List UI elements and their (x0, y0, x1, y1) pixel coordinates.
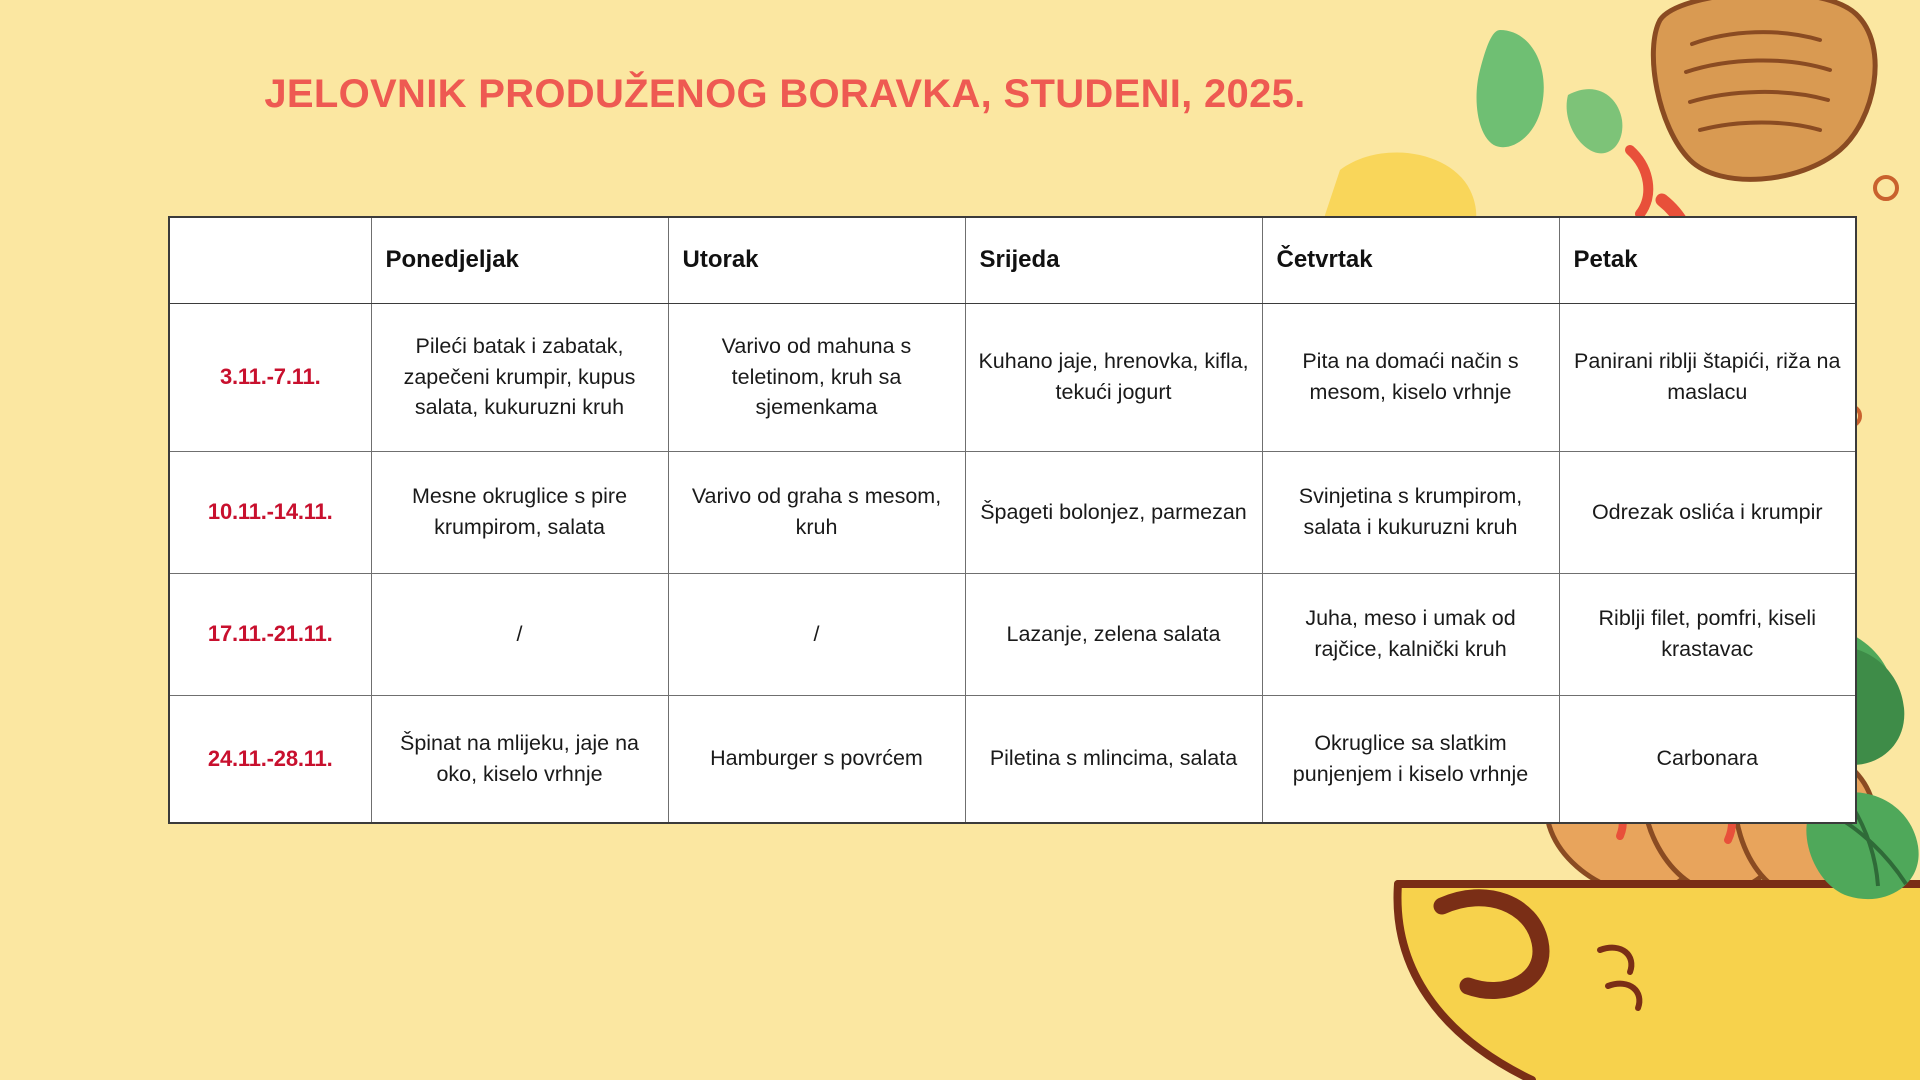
meal-cell: Pita na domaći način s mesom, kiselo vrh… (1262, 303, 1559, 451)
meal-cell: Varivo od graha s mesom, kruh (668, 451, 965, 573)
meal-cell: Kuhano jaje, hrenovka, kifla, tekući jog… (965, 303, 1262, 451)
page-title: JELOVNIK PRODUŽENOG BORAVKA, STUDENI, 20… (0, 72, 1570, 117)
menu-poster: JELOVNIK PRODUŽENOG BORAVKA, STUDENI, 20… (0, 0, 1920, 1080)
column-header-friday: Petak (1559, 217, 1856, 303)
column-header-tuesday: Utorak (668, 217, 965, 303)
menu-table: Ponedjeljak Utorak Srijeda Četvrtak Peta… (168, 216, 1857, 824)
bread-loaf-icon (1653, 0, 1875, 179)
meal-cell: Špageti bolonjez, parmezan (965, 451, 1262, 573)
column-header-thursday: Četvrtak (1262, 217, 1559, 303)
meal-cell: Pileći batak i zabatak, zapečeni krumpir… (371, 303, 668, 451)
meal-cell: Svinjetina s krumpirom, salata i kukuruz… (1262, 451, 1559, 573)
week-date-range: 17.11.-21.11. (169, 573, 371, 695)
meal-cell: Lazanje, zelena salata (965, 573, 1262, 695)
table-row: 10.11.-14.11. Mesne okruglice s pire kru… (169, 451, 1856, 573)
table-corner-header (169, 217, 371, 303)
table-row: 24.11.-28.11. Špinat na mlijeku, jaje na… (169, 695, 1856, 823)
meal-cell: Okruglice sa slatkim punjenjem i kiselo … (1262, 695, 1559, 823)
meal-cell: / (668, 573, 965, 695)
week-date-range: 24.11.-28.11. (169, 695, 371, 823)
table-header-row: Ponedjeljak Utorak Srijeda Četvrtak Peta… (169, 217, 1856, 303)
meal-cell: Juha, meso i umak od rajčice, kalnički k… (1262, 573, 1559, 695)
menu-table-container: Ponedjeljak Utorak Srijeda Četvrtak Peta… (168, 216, 1755, 824)
meal-cell: Riblji filet, pomfri, kiseli krastavac (1559, 573, 1856, 695)
column-header-wednesday: Srijeda (965, 217, 1262, 303)
meal-cell: Varivo od mahuna s teletinom, kruh sa sj… (668, 303, 965, 451)
table-row: 3.11.-7.11. Pileći batak i zabatak, zape… (169, 303, 1856, 451)
meal-cell: Piletina s mlincima, salata (965, 695, 1262, 823)
meal-cell: / (371, 573, 668, 695)
week-date-range: 3.11.-7.11. (169, 303, 371, 451)
meal-cell: Mesne okruglice s pire krumpirom, salata (371, 451, 668, 573)
meal-cell: Hamburger s povrćem (668, 695, 965, 823)
week-date-range: 10.11.-14.11. (169, 451, 371, 573)
column-header-monday: Ponedjeljak (371, 217, 668, 303)
meal-cell: Špinat na mlijeku, jaje na oko, kiselo v… (371, 695, 668, 823)
meal-cell: Panirani riblji štapići, riža na maslacu (1559, 303, 1856, 451)
meal-cell: Odrezak oslića i krumpir (1559, 451, 1856, 573)
table-row: 17.11.-21.11. / / Lazanje, zelena salata… (169, 573, 1856, 695)
meal-cell: Carbonara (1559, 695, 1856, 823)
